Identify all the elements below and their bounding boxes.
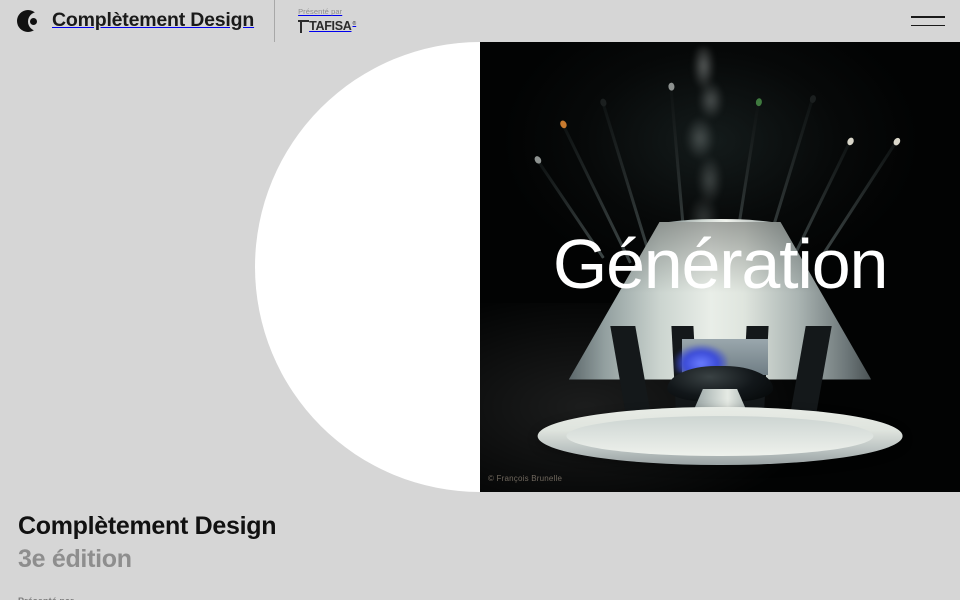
crescent-disc-icon <box>17 10 39 32</box>
fondue-photo-illustration <box>480 42 960 492</box>
tafisa-t-mark-icon <box>298 20 309 33</box>
steam-plume <box>676 47 736 237</box>
page-subtitle: 3e édition <box>18 539 960 572</box>
intro-sponsor-kicker: Présenté par <box>18 572 960 600</box>
site-header: Complètement Design Présenté par TAFISA … <box>0 0 960 42</box>
hero-photo[interactable]: Génération © François Brunelle <box>480 42 960 492</box>
sponsor-name: TAFISA <box>309 20 351 33</box>
sponsor-kicker: Présenté par <box>298 8 356 16</box>
brand-name: Complètement Design <box>52 11 254 31</box>
page-root: Complètement Design Présenté par TAFISA … <box>0 0 960 600</box>
sponsor-link[interactable]: Présenté par TAFISA ® <box>275 0 356 42</box>
hamburger-menu-icon[interactable] <box>896 0 960 42</box>
menu-bar-1 <box>911 16 945 18</box>
brand-home-link[interactable]: Complètement Design <box>0 0 254 42</box>
intro-section: Complètement Design 3e édition Présenté … <box>0 492 960 600</box>
menu-bar-2 <box>911 25 945 27</box>
registered-mark: ® <box>353 20 357 28</box>
hero-section: Génération © François Brunelle <box>0 42 960 492</box>
pot-saucer-inner <box>566 416 873 457</box>
page-title: Complètement Design <box>18 492 960 539</box>
tafisa-logo: TAFISA ® <box>298 20 356 34</box>
photo-credit: © François Brunelle <box>488 474 562 483</box>
